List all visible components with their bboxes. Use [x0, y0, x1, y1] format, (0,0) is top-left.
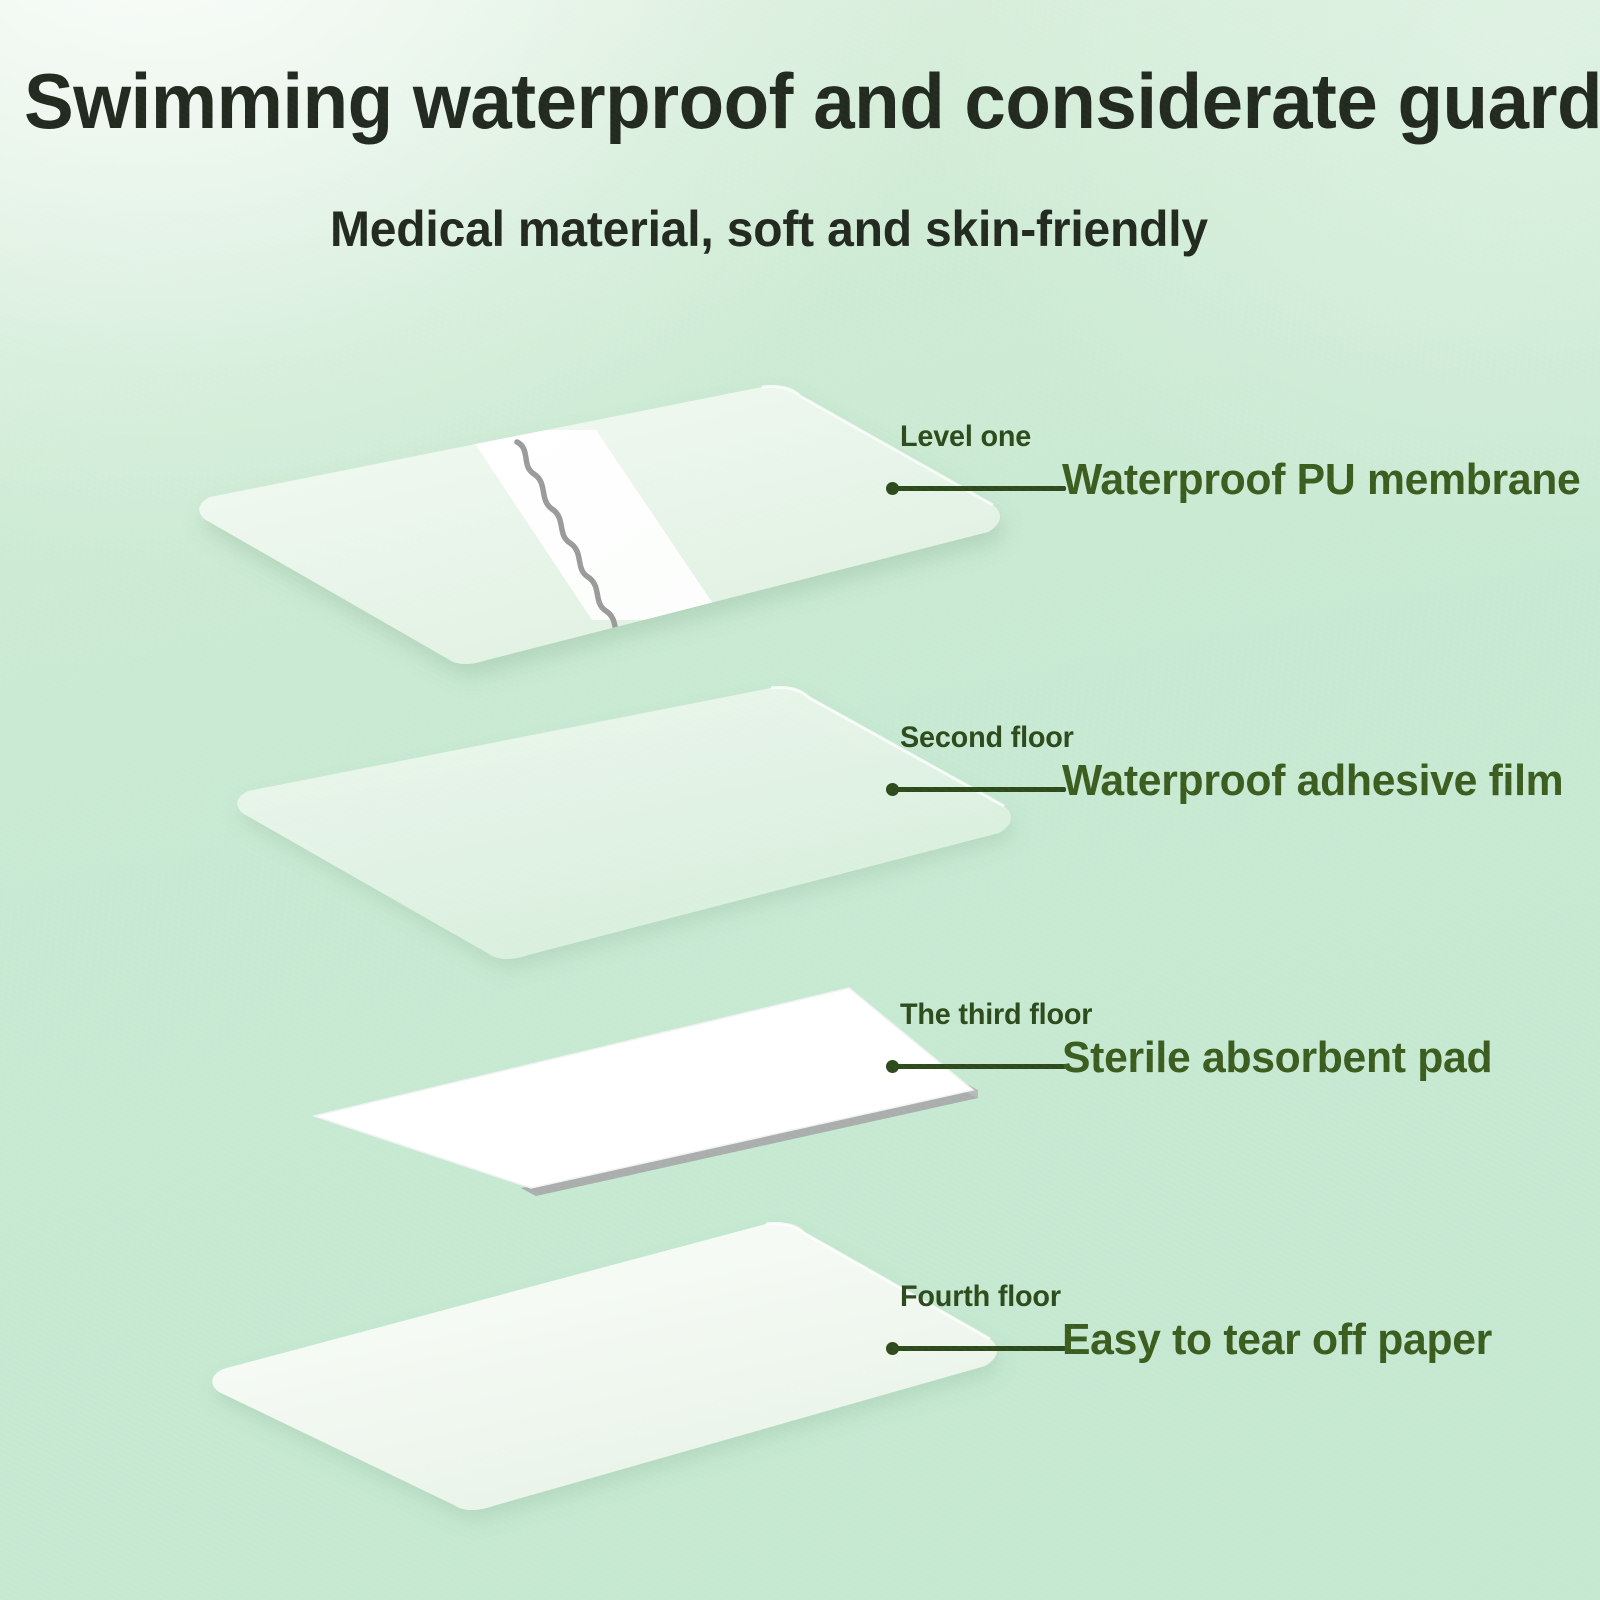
- leader-line-4: [886, 1340, 1066, 1356]
- infographic-poster: Swimming waterproof and considerate guar…: [0, 0, 1600, 1600]
- leader-rule: [894, 1346, 1066, 1351]
- leader-line-2: [886, 781, 1066, 797]
- leader-rule: [894, 787, 1066, 792]
- callout-tier-label-4: Fourth floor: [900, 1280, 1061, 1314]
- callout-title-3: Sterile absorbent pad: [1062, 1033, 1492, 1083]
- leader-rule: [894, 486, 1066, 491]
- callout-title-4: Easy to tear off paper: [1062, 1315, 1492, 1365]
- leader-line-1: [886, 480, 1066, 496]
- leader-rule: [894, 1064, 1066, 1069]
- callout-tier-label-3: The third floor: [900, 998, 1092, 1032]
- callout-tier-label-2: Second floor: [900, 721, 1074, 755]
- layer-2-waterproof-adhesive-film: [237, 687, 1011, 959]
- callout-tier-label-1: Level one: [900, 420, 1031, 454]
- leader-line-3: [886, 1058, 1066, 1074]
- callout-title-1: Waterproof PU membrane: [1062, 455, 1580, 505]
- page-subtitle: Medical material, soft and skin-friendly: [330, 200, 1208, 258]
- layer-1-waterproof-pu-membrane: [199, 386, 1000, 664]
- callout-title-2: Waterproof adhesive film: [1062, 756, 1563, 806]
- page-title: Swimming waterproof and considerate guar…: [24, 62, 1514, 140]
- layer-4-easy-to-tear-off-paper: [212, 1223, 997, 1510]
- layer-3-sterile-absorbent-pad: [314, 988, 978, 1196]
